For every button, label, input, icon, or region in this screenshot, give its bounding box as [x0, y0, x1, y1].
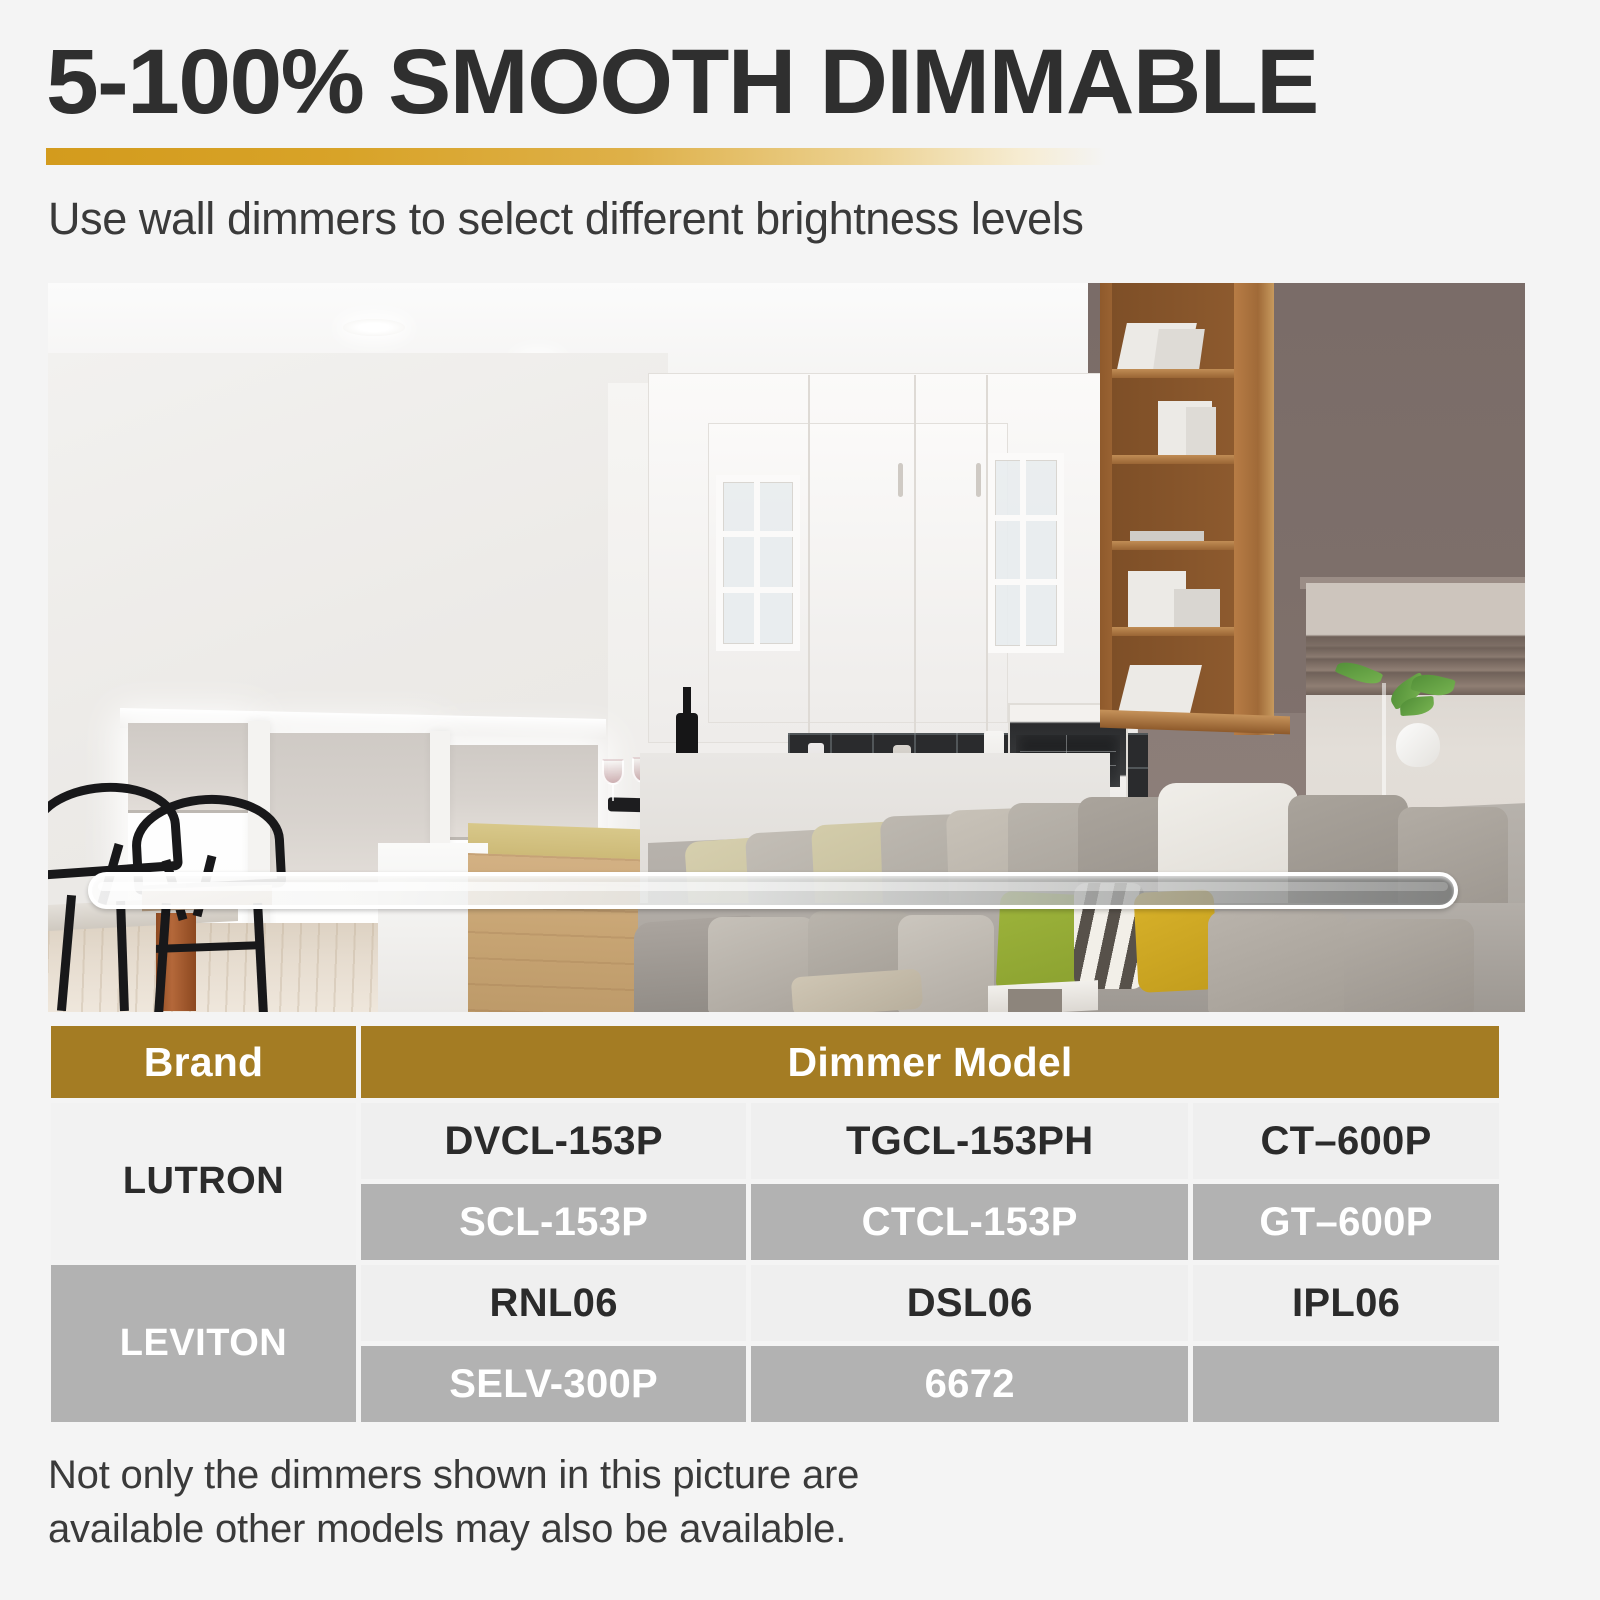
dimmer-compatibility-table: Brand Dimmer Model LUTRON DVCL-153P TGCL… — [46, 1021, 1504, 1427]
recessed-downlight — [343, 319, 405, 336]
header-brand: Brand — [51, 1026, 356, 1098]
bookshelf-shelf — [1112, 369, 1234, 378]
table-header-row: Brand Dimmer Model — [51, 1026, 1499, 1098]
book — [1118, 665, 1202, 713]
oven-rack — [1020, 751, 1116, 752]
sofa-cushion — [1344, 919, 1474, 1012]
table-body: LUTRON DVCL-153P TGCL-153PH CT–600P SCL-… — [51, 1103, 1499, 1422]
cabinet-seam — [914, 375, 916, 741]
model-cell-empty — [1193, 1346, 1499, 1422]
model-cell: GT–600P — [1193, 1184, 1499, 1260]
model-cell: IPL06 — [1193, 1265, 1499, 1341]
header-dimmer-model: Dimmer Model — [361, 1026, 1499, 1098]
glass-cabinet-door — [988, 453, 1064, 653]
cabinet-mullion — [988, 515, 1064, 521]
gold-accent-rule — [46, 148, 1106, 165]
sofa-cushion — [1208, 911, 1348, 1012]
table-head: Brand Dimmer Model — [51, 1026, 1499, 1098]
table-row: LEVITON RNL06 DSL06 IPL06 — [51, 1265, 1499, 1341]
model-cell: 6672 — [751, 1346, 1188, 1422]
model-cell: TGCL-153PH — [751, 1103, 1188, 1179]
infographic-page: 5-100% SMOOTH DIMMABLE Use wall dimmers … — [0, 0, 1600, 1600]
bookshelf-side-panel — [1234, 283, 1274, 735]
plant-pot — [1396, 723, 1440, 767]
wine-glass — [602, 759, 624, 785]
cabinet-mullion — [716, 587, 800, 593]
bookshelf-shelf — [1112, 541, 1234, 550]
model-cell: DVCL-153P — [361, 1103, 746, 1179]
brand-cell-lutron: LUTRON — [51, 1103, 356, 1260]
table-row: LUTRON DVCL-153P TGCL-153PH CT–600P — [51, 1103, 1499, 1179]
bookshelf-shelf — [1112, 455, 1234, 464]
cabinet-seam — [808, 375, 810, 741]
footnote-line-2: available other models may also be avail… — [48, 1502, 1148, 1556]
book — [1130, 531, 1204, 541]
model-cell: SELV-300P — [361, 1346, 746, 1422]
book — [1186, 407, 1216, 455]
wine-glass-stem — [612, 785, 614, 801]
model-cell: CTCL-153P — [751, 1184, 1188, 1260]
bookshelf-shelf — [1112, 627, 1234, 636]
cabinet-mullion — [754, 475, 760, 651]
cabinet-mullion — [988, 579, 1064, 585]
brand-cell-leviton: LEVITON — [51, 1265, 356, 1422]
cabinet-mullion — [1020, 453, 1026, 653]
footnote-line-1: Not only the dimmers shown in this pictu… — [48, 1448, 1148, 1502]
model-cell: CT–600P — [1193, 1103, 1499, 1179]
cabinet-mullion — [716, 531, 800, 537]
page-subtitle: Use wall dimmers to select different bri… — [48, 190, 1084, 248]
footnote: Not only the dimmers shown in this pictu… — [48, 1448, 1148, 1556]
model-cell: SCL-153P — [361, 1184, 746, 1260]
cabinet-handle — [898, 463, 903, 497]
model-cell: RNL06 — [361, 1265, 746, 1341]
brightness-slider[interactable] — [88, 872, 1458, 909]
page-title: 5-100% SMOOTH DIMMABLE — [46, 34, 1600, 130]
book — [1174, 589, 1220, 627]
model-cell: DSL06 — [751, 1265, 1188, 1341]
cabinet-handle — [976, 463, 981, 497]
magazine-cover — [1008, 989, 1062, 1012]
book — [1153, 329, 1205, 369]
